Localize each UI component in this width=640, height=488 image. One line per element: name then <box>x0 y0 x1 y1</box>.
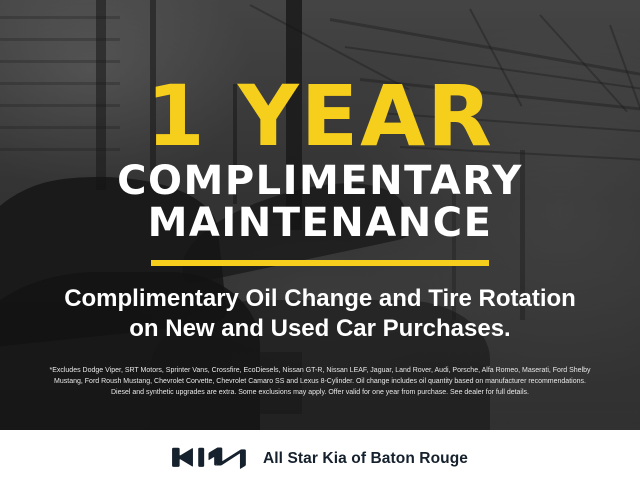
hero-content: 1 YEAR COMPLIMENTARY MAINTENANCE Complim… <box>0 0 640 430</box>
promotional-banner: 1 YEAR COMPLIMENTARY MAINTENANCE Complim… <box>0 0 640 488</box>
disclaimer-line-3: Diesel and synthetic upgrades are extra.… <box>8 387 632 398</box>
hero-section: 1 YEAR COMPLIMENTARY MAINTENANCE Complim… <box>0 0 640 430</box>
disclaimer-line-1: *Excludes Dodge Viper, SRT Motors, Sprin… <box>8 365 632 376</box>
dealer-name: All Star Kia of Baton Rouge <box>263 450 468 468</box>
subheadline: Complimentary Oil Change and Tire Rotati… <box>20 284 620 343</box>
kia-logo <box>172 447 246 471</box>
yellow-divider-bar <box>151 260 489 266</box>
headline-secondary-line-1: COMPLIMENTARY <box>117 161 523 201</box>
subheadline-line-1: Complimentary Oil Change and Tire Rotati… <box>20 284 620 313</box>
disclaimer-text: *Excludes Dodge Viper, SRT Motors, Sprin… <box>8 365 632 399</box>
headline-secondary-line-2: MAINTENANCE <box>148 203 493 243</box>
disclaimer-line-2: Mustang, Ford Roush Mustang, Chevrolet C… <box>8 376 632 387</box>
headline-primary: 1 YEAR <box>146 78 494 155</box>
subheadline-line-2: on New and Used Car Purchases. <box>20 314 620 343</box>
footer-bar: All Star Kia of Baton Rouge <box>0 430 640 488</box>
